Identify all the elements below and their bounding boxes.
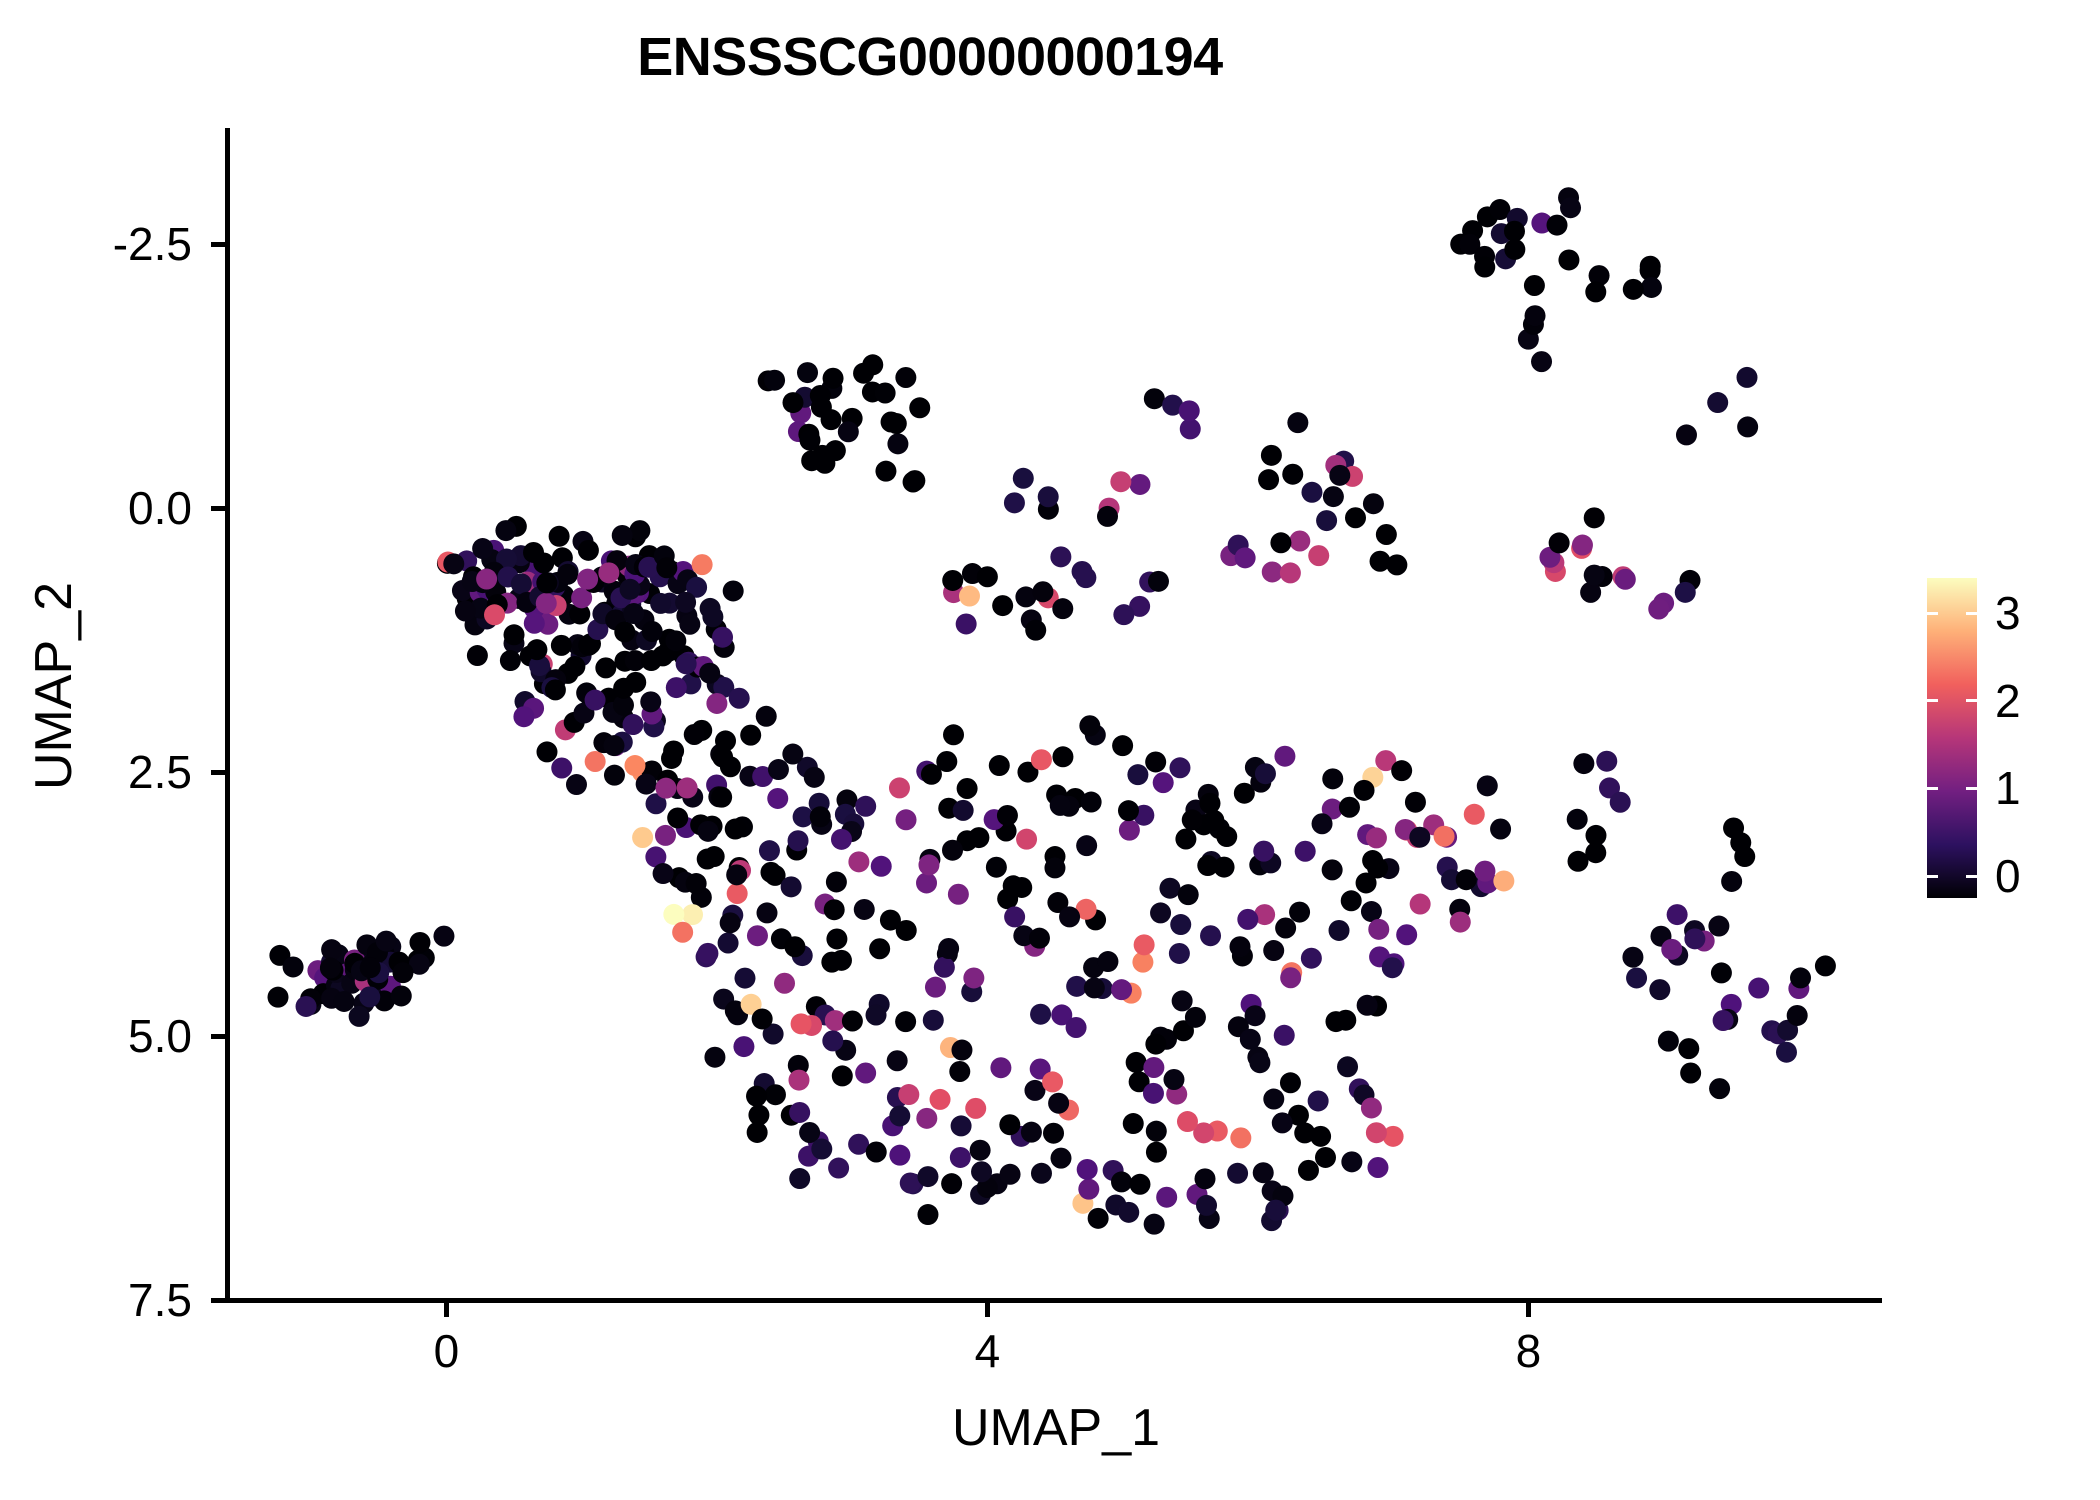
scatter-point	[1708, 916, 1729, 937]
scatter-point	[938, 938, 959, 959]
scatter-point	[1030, 1004, 1051, 1025]
scatter-point	[862, 354, 883, 375]
scatter-point	[943, 724, 964, 745]
scatter-point	[909, 397, 930, 418]
scatter-point	[1129, 1174, 1150, 1195]
scatter-point	[977, 566, 998, 587]
scatter-point	[557, 564, 578, 585]
scatter-point	[1341, 890, 1362, 911]
x-tick-label: 8	[1448, 1328, 1608, 1374]
scatter-point	[918, 854, 939, 875]
x-tick-label: 4	[907, 1328, 1067, 1374]
scatter-point	[789, 1102, 810, 1123]
scatter-point	[1044, 857, 1065, 878]
scatter-point	[1322, 768, 1343, 789]
scatter-point	[923, 1010, 944, 1031]
scatter-point	[789, 1168, 810, 1189]
scatter-point	[1143, 1057, 1164, 1078]
scatter-point	[1308, 1090, 1329, 1111]
scatter-point	[682, 904, 703, 925]
scatter-point	[1301, 948, 1322, 969]
color-legend-tick-mark	[1966, 612, 1977, 615]
scatter-point	[686, 873, 707, 894]
scatter-point	[1180, 418, 1201, 439]
scatter-point	[595, 657, 616, 678]
scatter-point	[804, 767, 825, 788]
scatter-point	[1177, 1111, 1198, 1132]
scatter-point	[712, 747, 733, 768]
scatter-point	[1626, 967, 1647, 988]
scatter-point	[359, 986, 380, 1007]
scatter-point	[321, 939, 342, 960]
scatter-point	[376, 931, 397, 952]
scatter-point	[767, 788, 788, 809]
scatter-point	[1737, 416, 1758, 437]
scatter-point	[1013, 468, 1034, 489]
scatter-point	[1585, 842, 1606, 863]
y-tick-label: -2.5	[42, 221, 192, 267]
scatter-point	[697, 943, 718, 964]
scatter-point	[1295, 841, 1316, 862]
scatter-point	[1280, 562, 1301, 583]
scatter-point	[283, 956, 304, 977]
scatter-point	[1000, 1164, 1021, 1185]
scatter-point	[1367, 1157, 1388, 1178]
scatter-point	[1075, 567, 1096, 588]
scatter-point	[672, 922, 693, 943]
scatter-point	[1312, 813, 1333, 834]
scatter-point	[1274, 1025, 1295, 1046]
scatter-point	[624, 755, 645, 776]
scatter-point	[1322, 859, 1343, 880]
color-legend-tick-mark	[1966, 875, 1977, 878]
scatter-point	[854, 899, 875, 920]
y-tick-mark	[211, 1034, 225, 1039]
scatter-point	[1357, 995, 1378, 1016]
scatter-point	[1474, 257, 1495, 278]
scatter-point	[1261, 445, 1282, 466]
scatter-point	[1396, 924, 1417, 945]
scatter-point	[1325, 1011, 1346, 1032]
scatter-point	[886, 413, 907, 434]
scatter-point	[1179, 400, 1200, 421]
scatter-point	[916, 1108, 937, 1129]
color-legend-tick-mark	[1927, 875, 1938, 878]
scatter-point	[1274, 746, 1295, 767]
scatter-point	[1178, 884, 1199, 905]
scatter-point	[764, 370, 785, 391]
scatter-point	[1298, 1160, 1319, 1181]
scatter-point	[1610, 792, 1631, 813]
scatter-point	[989, 755, 1010, 776]
scatter-point	[934, 957, 955, 978]
scatter-point	[1079, 715, 1100, 736]
scatter-point	[663, 904, 684, 925]
color-legend-tick-mark	[1966, 699, 1977, 702]
scatter-point	[578, 540, 599, 561]
scatter-point	[1052, 746, 1073, 767]
scatter-point	[1182, 809, 1203, 830]
scatter-point	[1253, 1162, 1274, 1183]
scatter-point	[1163, 1069, 1184, 1090]
scatter-point	[655, 825, 676, 846]
color-legend-tick-mark	[1966, 787, 1977, 790]
scatter-point	[513, 706, 534, 727]
scatter-point	[1032, 581, 1053, 602]
scatter-point	[667, 807, 688, 828]
scatter-point	[1585, 281, 1606, 302]
scatter-point	[1376, 524, 1397, 545]
scatter-point	[702, 606, 723, 627]
scatter-point	[1308, 545, 1329, 566]
scatter-point	[1265, 1200, 1286, 1221]
scatter-point	[1129, 474, 1150, 495]
scatter-point	[968, 827, 989, 848]
scatter-point	[828, 1158, 849, 1179]
scatter-point	[1560, 197, 1581, 218]
scatter-point	[504, 624, 525, 645]
scatter-point	[409, 932, 430, 953]
scatter-point	[1721, 871, 1742, 892]
scatter-point	[747, 925, 768, 946]
scatter-point	[500, 650, 521, 671]
scatter-point	[1405, 792, 1426, 813]
scatter-point	[1282, 464, 1303, 485]
scatter-point	[941, 1173, 962, 1194]
scatter-point	[549, 526, 570, 547]
scatter-points-layer	[230, 128, 1880, 1300]
scatter-point	[895, 1011, 916, 1032]
scatter-point	[632, 827, 653, 848]
scatter-point	[476, 569, 497, 590]
scatter-point	[917, 1204, 938, 1225]
scatter-point	[759, 840, 780, 861]
scatter-point	[1097, 951, 1118, 972]
scatter-point	[564, 656, 585, 677]
scatter-point	[726, 864, 747, 885]
scatter-point	[1134, 934, 1155, 955]
scatter-point	[712, 627, 733, 648]
scatter-point	[1280, 967, 1301, 988]
scatter-point	[752, 1008, 773, 1029]
scatter-point	[1790, 967, 1811, 988]
scatter-point	[826, 928, 847, 949]
scatter-point	[949, 1061, 970, 1082]
scatter-point	[1584, 565, 1605, 586]
scatter-point	[360, 957, 381, 978]
plot-panel	[230, 128, 1880, 1300]
scatter-point	[472, 538, 493, 559]
scatter-point	[826, 871, 847, 892]
scatter-point	[1368, 919, 1389, 940]
scatter-point	[1386, 554, 1407, 575]
scatter-point	[1150, 902, 1171, 923]
scatter-point	[650, 593, 671, 614]
scatter-point	[692, 554, 713, 575]
scatter-point	[1531, 351, 1552, 372]
scatter-point	[1144, 1214, 1165, 1235]
scatter-point	[1649, 979, 1670, 1000]
scatter-point	[948, 884, 969, 905]
scatter-point	[1329, 920, 1350, 941]
scatter-point	[699, 663, 720, 684]
scatter-point	[1711, 962, 1732, 983]
scatter-point	[536, 572, 557, 593]
scatter-point	[1316, 510, 1337, 531]
scatter-point	[1275, 917, 1296, 938]
color-legend-label: 0	[1995, 853, 2021, 899]
scatter-point	[1016, 829, 1037, 850]
scatter-point	[1525, 305, 1546, 326]
scatter-point	[810, 806, 831, 827]
y-axis-title: UMAP_2	[24, 376, 84, 996]
y-tick-label: 7.5	[42, 1277, 192, 1323]
scatter-point	[1549, 532, 1570, 553]
scatter-point	[1287, 412, 1308, 433]
scatter-point	[925, 977, 946, 998]
scatter-point	[1197, 855, 1218, 876]
scatter-point	[296, 996, 317, 1017]
scatter-point	[1667, 904, 1688, 925]
scatter-point	[1776, 1042, 1797, 1063]
scatter-point	[1363, 493, 1384, 514]
scatter-point	[729, 688, 750, 709]
scatter-point	[1066, 1017, 1087, 1038]
scatter-point	[896, 809, 917, 830]
scatter-point	[1675, 582, 1696, 603]
scatter-point	[1615, 569, 1636, 590]
scatter-point	[898, 1084, 919, 1105]
scatter-point	[723, 580, 744, 601]
scatter-point	[1235, 547, 1256, 568]
scatter-point	[484, 604, 505, 625]
scatter-point	[612, 525, 633, 546]
scatter-point	[623, 714, 644, 735]
scatter-point	[1169, 943, 1190, 964]
scatter-point	[1709, 1078, 1730, 1099]
scatter-point	[1450, 912, 1471, 933]
scatter-point	[706, 693, 727, 714]
scatter-point	[1490, 819, 1511, 840]
scatter-point	[1076, 835, 1097, 856]
scatter-point	[733, 1036, 754, 1057]
scatter-point	[1112, 735, 1133, 756]
scatter-point	[704, 1047, 725, 1068]
scatter-point	[1640, 256, 1661, 277]
scatter-point	[1003, 875, 1024, 896]
scatter-point	[1787, 1005, 1808, 1026]
scatter-point	[656, 557, 677, 578]
scatter-point	[511, 573, 532, 594]
x-tick-mark	[444, 1303, 449, 1317]
scatter-point	[889, 1105, 910, 1126]
scatter-point	[653, 863, 674, 884]
scatter-point	[349, 1006, 370, 1027]
scatter-point	[1004, 906, 1025, 927]
scatter-point	[1339, 797, 1360, 818]
scatter-point	[551, 758, 572, 779]
scatter-point	[1038, 486, 1059, 507]
scatter-point	[832, 1065, 853, 1086]
color-legend-tick-mark	[1927, 612, 1938, 615]
scatter-point	[887, 1050, 908, 1071]
y-tick-mark	[211, 506, 225, 511]
scatter-point	[467, 645, 488, 666]
scatter-point	[1118, 1202, 1139, 1223]
scatter-point	[1050, 546, 1071, 567]
scatter-point	[684, 724, 705, 745]
scatter-point	[734, 968, 755, 989]
scatter-point	[1258, 469, 1279, 490]
y-tick-mark	[211, 1298, 225, 1303]
scatter-point	[963, 967, 984, 988]
scatter-point	[1684, 928, 1705, 949]
scatter-point	[1240, 1029, 1261, 1050]
scatter-point	[536, 741, 557, 762]
scatter-point	[704, 846, 725, 867]
scatter-point	[1123, 1113, 1144, 1134]
scatter-point	[951, 1040, 972, 1061]
scatter-point	[1648, 599, 1669, 620]
scatter-point	[495, 520, 516, 541]
scatter-point	[999, 1114, 1020, 1135]
scatter-point	[1051, 1148, 1072, 1169]
scatter-point	[1382, 957, 1403, 978]
scatter-point	[866, 1004, 887, 1025]
color-legend-label: 3	[1995, 590, 2021, 636]
scatter-point	[1707, 392, 1728, 413]
scatter-point	[842, 1011, 863, 1032]
scatter-point	[990, 1057, 1011, 1078]
scatter-point	[603, 735, 624, 756]
scatter-point	[334, 991, 355, 1012]
scatter-point	[1584, 507, 1605, 528]
scatter-point	[1361, 1097, 1382, 1118]
scatter-point	[823, 368, 844, 389]
y-tick-label: 0.0	[42, 485, 192, 531]
scatter-point	[642, 621, 663, 642]
scatter-point	[1048, 1093, 1069, 1114]
scatter-point	[1199, 793, 1220, 814]
scatter-point	[831, 829, 852, 850]
scatter-point	[1580, 582, 1601, 603]
scatter-point	[887, 433, 908, 454]
scatter-point	[1730, 832, 1751, 853]
scatter-point	[1263, 940, 1284, 961]
scatter-point	[1043, 1123, 1064, 1144]
scatter-point	[957, 778, 978, 799]
scatter-point	[1391, 760, 1412, 781]
scatter-point	[1280, 1072, 1301, 1093]
scatter-point	[848, 851, 869, 872]
scatter-point	[1025, 620, 1046, 641]
scatter-point	[1567, 809, 1588, 830]
y-tick-mark	[211, 242, 225, 247]
scatter-point	[810, 385, 831, 406]
scatter-point	[1289, 531, 1310, 552]
scatter-point	[1263, 1089, 1284, 1110]
scatter-point	[665, 630, 686, 651]
scatter-point	[1345, 507, 1366, 528]
scatter-point	[895, 367, 916, 388]
scatter-point	[855, 1062, 876, 1083]
scatter-point	[831, 950, 852, 971]
scatter-point	[1323, 486, 1344, 507]
scatter-point	[720, 912, 741, 933]
scatter-point	[1078, 1179, 1099, 1200]
scatter-point	[614, 621, 635, 642]
scatter-point	[1572, 535, 1593, 556]
scatter-point	[1084, 977, 1105, 998]
scatter-point	[1081, 792, 1102, 813]
scatter-point	[1253, 841, 1274, 862]
scatter-point	[524, 613, 545, 634]
scatter-point	[1146, 1142, 1167, 1163]
scatter-point	[1524, 275, 1545, 296]
scatter-point	[1237, 909, 1258, 930]
scatter-point	[921, 764, 942, 785]
scatter-point	[959, 586, 980, 607]
scatter-point	[965, 1098, 986, 1119]
scatter-point	[1354, 780, 1375, 801]
scatter-point	[1021, 1122, 1042, 1143]
scatter-point	[455, 601, 476, 622]
scatter-point	[1301, 482, 1322, 503]
scatter-point	[1118, 800, 1139, 821]
scatter-point	[536, 593, 557, 614]
scatter-point	[821, 409, 842, 430]
color-legend-label: 2	[1995, 678, 2021, 724]
scatter-point	[1262, 561, 1283, 582]
scatter-point	[1195, 1168, 1216, 1189]
scatter-point	[783, 392, 804, 413]
scatter-point	[824, 899, 845, 920]
color-legend-tick-mark	[1927, 699, 1938, 702]
scatter-point	[1661, 939, 1682, 960]
scatter-point	[942, 570, 963, 591]
scatter-point	[636, 774, 657, 795]
scatter-point	[889, 777, 910, 798]
y-tick-label: 5.0	[42, 1013, 192, 1059]
scatter-point	[392, 962, 413, 983]
scatter-point	[1678, 1038, 1699, 1059]
scatter-point	[1175, 829, 1196, 850]
scatter-point	[598, 562, 619, 583]
umap-feature-plot: ENSSSCG00000000194 UMAP_1 UMAP_2 3210 7.…	[0, 0, 2100, 1500]
scatter-point	[1255, 763, 1276, 784]
scatter-point	[718, 932, 739, 953]
scatter-point	[1366, 1122, 1387, 1143]
scatter-point	[711, 787, 732, 808]
scatter-point	[1113, 604, 1134, 625]
scatter-point	[953, 800, 974, 821]
scatter-point	[1059, 906, 1080, 927]
scatter-point	[942, 840, 963, 861]
scatter-point	[577, 569, 598, 590]
scatter-point	[951, 1115, 972, 1136]
scatter-point	[1362, 850, 1383, 871]
x-axis-title: UMAP_1	[230, 1398, 1882, 1458]
scatter-point	[880, 910, 901, 931]
scatter-point	[1464, 804, 1485, 825]
scatter-point	[1329, 465, 1350, 486]
scatter-point	[740, 725, 761, 746]
scatter-point	[1456, 869, 1477, 890]
color-legend-tick-mark	[1927, 787, 1938, 790]
scatter-point	[1622, 947, 1643, 968]
y-tick-mark	[211, 770, 225, 775]
scatter-point	[1641, 277, 1662, 298]
